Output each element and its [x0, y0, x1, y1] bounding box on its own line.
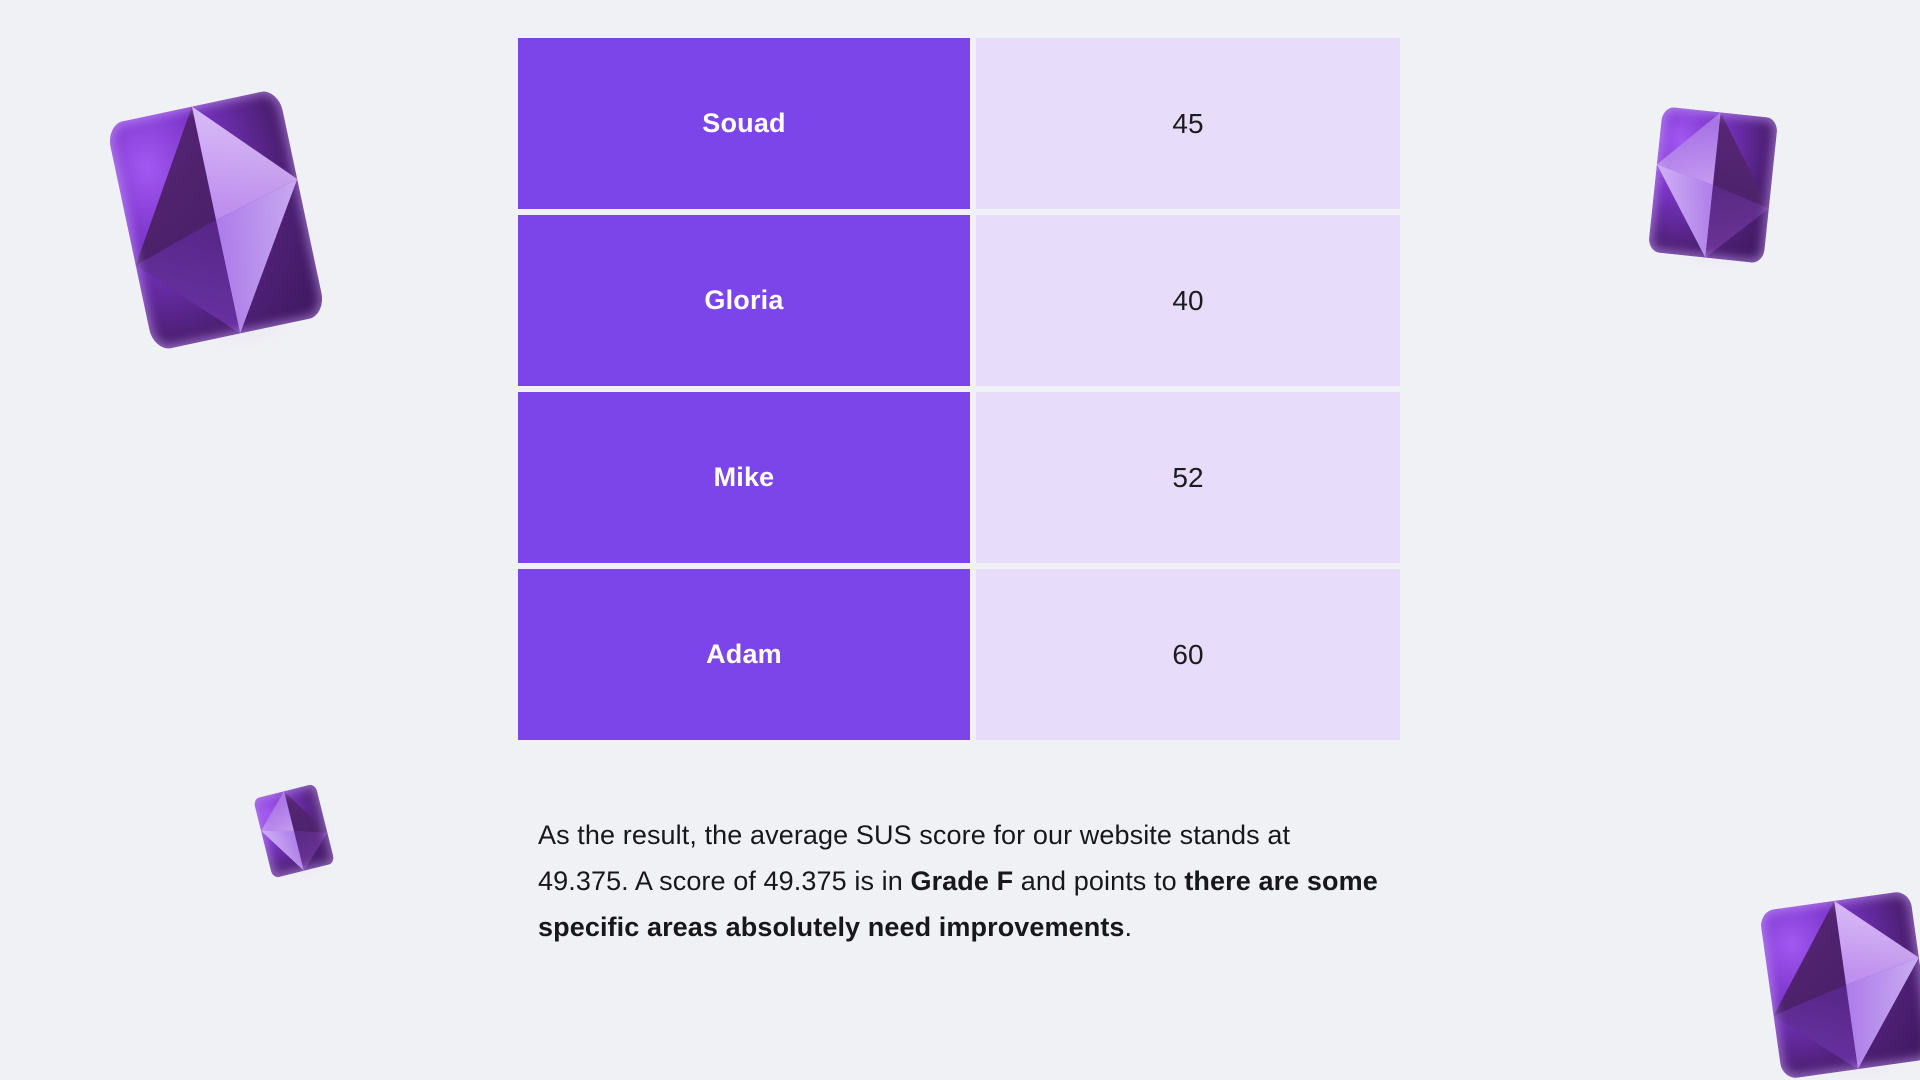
diamond-facet-top-right — [106, 88, 326, 352]
table-row: Gloria 40 — [518, 215, 1400, 386]
diamond-faces — [1759, 890, 1920, 1079]
participant-score-cell: 40 — [976, 215, 1400, 386]
conclusion-text-part-2: and points to — [1013, 866, 1184, 896]
participant-name-cell: Souad — [518, 38, 970, 209]
diamond-decoration-bottom-tiny — [253, 783, 335, 878]
diamond-faces — [1648, 106, 1779, 263]
diamond-decoration-bottom-large — [1759, 890, 1920, 1079]
diamond-facet-bottom-left — [1648, 106, 1779, 263]
diamond-faces — [253, 783, 335, 878]
diamond-glow — [1640, 97, 1786, 273]
diamond-rim-light — [1648, 106, 1779, 263]
diamond-facet-bottom-right — [253, 783, 335, 878]
diamond-facet-top-right — [1759, 890, 1920, 1079]
diamond-facet-top-left — [1648, 106, 1779, 263]
diamond-facet-bottom-right — [1648, 106, 1779, 263]
participant-name-cell: Adam — [518, 569, 970, 740]
diamond-base — [253, 783, 335, 878]
diamond-base — [106, 88, 326, 352]
table-row: Souad 45 — [518, 38, 1400, 209]
diamond-facet-top-left — [106, 88, 326, 352]
diamond-base — [1648, 106, 1779, 263]
diamond-faces — [106, 88, 326, 352]
diamond-decoration-left-large — [106, 88, 326, 352]
diamond-rim-light — [1759, 890, 1920, 1079]
diamond-base — [1759, 890, 1920, 1079]
diamond-facet-top-right — [253, 783, 335, 878]
participant-score-cell: 45 — [976, 38, 1400, 209]
participant-name-cell: Gloria — [518, 215, 970, 386]
diamond-facet-top-left — [253, 783, 335, 878]
diamond-facet-top-right — [1648, 106, 1779, 263]
diamond-rim-light — [253, 783, 335, 878]
diamond-facet-bottom-right — [106, 88, 326, 352]
participant-name-cell: Mike — [518, 392, 970, 563]
participant-score-cell: 60 — [976, 569, 1400, 740]
slide-canvas: Souad 45 Gloria 40 Mike 52 Adam 60 As th… — [0, 0, 1920, 1080]
table-row: Mike 52 — [518, 392, 1400, 563]
diamond-facet-bottom-left — [106, 88, 326, 352]
diamond-glow — [93, 72, 340, 367]
conclusion-text-part-3: . — [1125, 912, 1133, 942]
participant-score-cell: 52 — [976, 392, 1400, 563]
sus-score-table: Souad 45 Gloria 40 Mike 52 Adam 60 — [518, 38, 1400, 740]
diamond-glow — [1748, 879, 1920, 1080]
diamond-facet-bottom-left — [253, 783, 335, 878]
diamond-facet-bottom-left — [1759, 890, 1920, 1079]
conclusion-paragraph: As the result, the average SUS score for… — [538, 812, 1388, 950]
diamond-facet-bottom-right — [1759, 890, 1920, 1079]
conclusion-grade-emphasis: Grade F — [910, 866, 1013, 896]
diamond-decoration-right-small — [1648, 106, 1779, 263]
diamond-facet-top-left — [1759, 890, 1920, 1079]
diamond-glow — [248, 778, 340, 884]
diamond-rim-light — [106, 88, 326, 352]
table-row: Adam 60 — [518, 569, 1400, 740]
